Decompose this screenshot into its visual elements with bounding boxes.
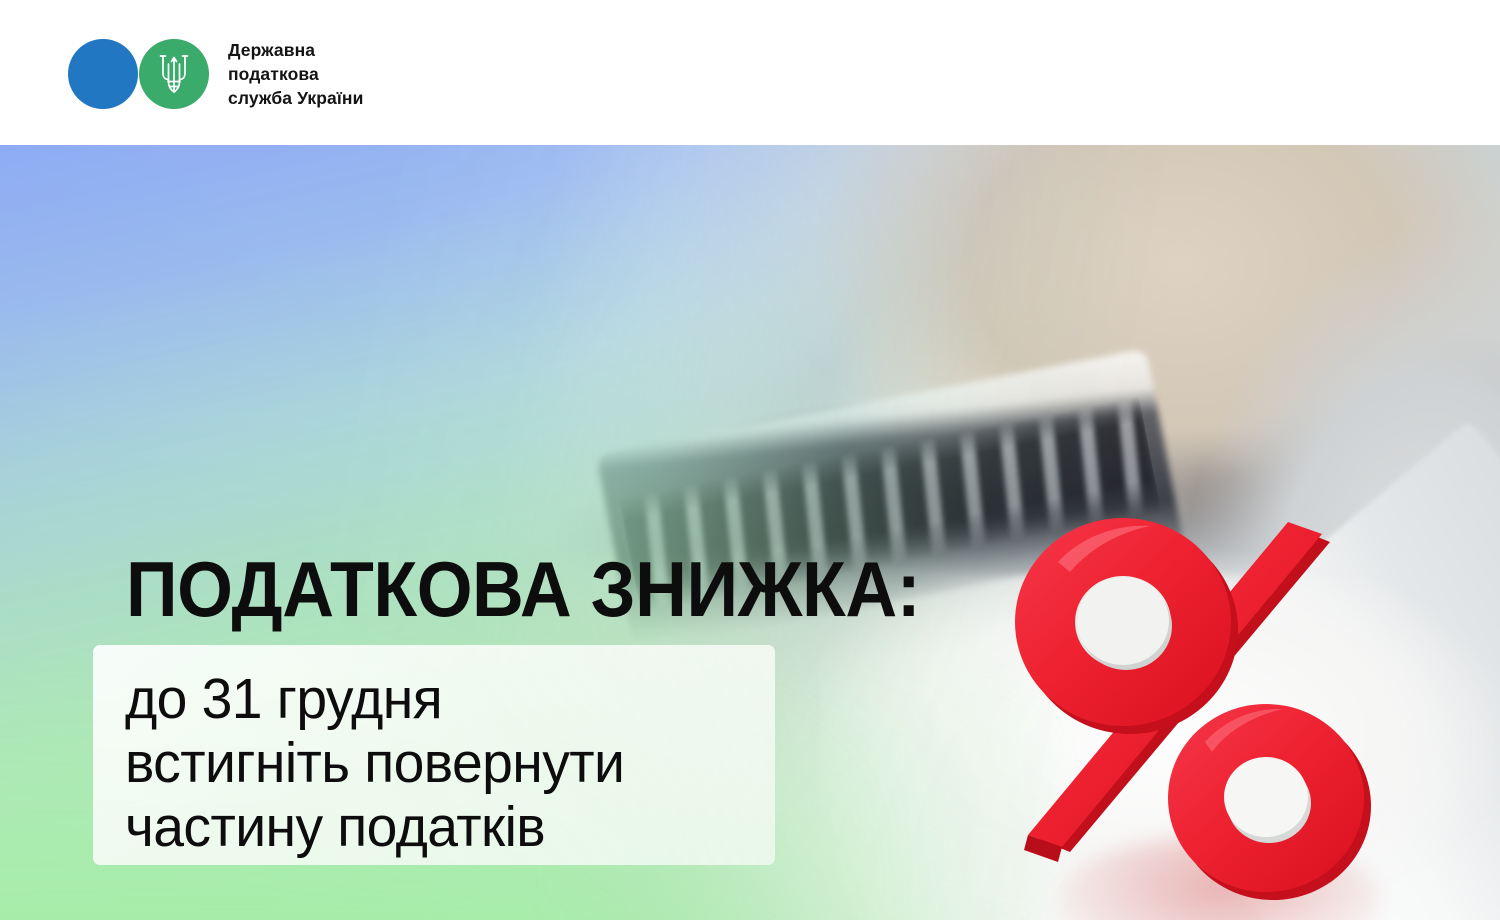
subtitle-line-3: частину податків: [125, 795, 756, 859]
ukraine-trident-icon: [139, 39, 209, 109]
subtitle-line-1: до 31 грудня: [125, 667, 756, 731]
tax-discount-banner: Державна податкова служба України: [0, 0, 1500, 920]
logo-marks: [68, 39, 208, 109]
subtitle-panel: до 31 грудня встигніть повернути частину…: [93, 645, 775, 865]
header-bar: Державна податкова служба України: [0, 0, 1500, 145]
organization-logo[interactable]: Державна податкова служба України: [68, 38, 363, 110]
percent-sign-icon: [1000, 490, 1380, 900]
organization-name-line-2: податкова: [228, 62, 363, 86]
organization-name-line-1: Державна: [228, 38, 363, 62]
organization-name: Державна податкова служба України: [228, 38, 363, 110]
subtitle-line-2: встигніть повернути: [125, 731, 756, 795]
blue-circle-icon: [68, 39, 138, 109]
page-title: ПОДАТКОВА ЗНИЖКА:: [126, 549, 920, 629]
poster-artwork: ПОДАТКОВА ЗНИЖКА: до 31 грудня встигніть…: [0, 145, 1500, 920]
organization-name-line-3: служба України: [228, 86, 363, 110]
